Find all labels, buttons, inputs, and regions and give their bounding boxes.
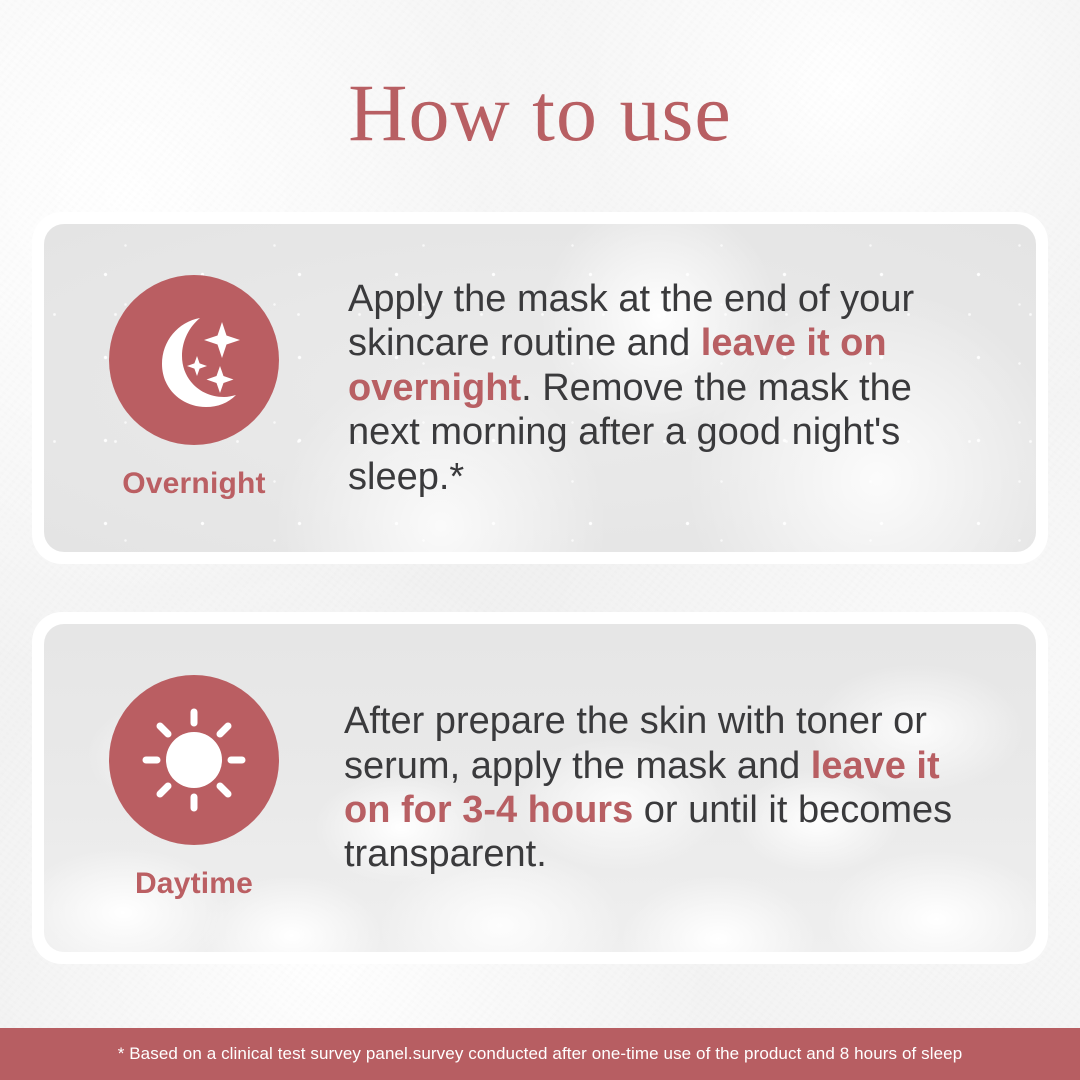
overnight-icon-badge	[109, 275, 279, 445]
poster-root: How to use Overnight Apply the mask at	[0, 0, 1080, 1080]
step-card-daytime: Daytime After prepare the skin with tone…	[32, 612, 1048, 964]
footer-disclaimer: * Based on a clinical test survey panel.…	[118, 1044, 963, 1064]
daytime-icon-badge	[109, 675, 279, 845]
overnight-icon-column: Overnight	[44, 275, 344, 501]
page-title: How to use	[0, 72, 1080, 154]
daytime-body-text: After prepare the skin with toner or ser…	[344, 699, 988, 877]
overnight-label: Overnight	[122, 467, 265, 501]
overnight-body-column: Apply the mask at the end of your skinca…	[344, 239, 1036, 537]
daytime-body-column: After prepare the skin with toner or ser…	[344, 661, 1036, 915]
step-card-overnight: Overnight Apply the mask at the end of y…	[32, 212, 1048, 564]
overnight-body-text: Apply the mask at the end of your skinca…	[348, 277, 988, 499]
daytime-icon-column: Daytime	[44, 675, 344, 901]
crescent-moon-stars-icon	[138, 304, 250, 416]
daytime-label: Daytime	[135, 867, 253, 901]
footer-bar: * Based on a clinical test survey panel.…	[0, 1028, 1080, 1080]
sun-icon	[138, 704, 250, 816]
